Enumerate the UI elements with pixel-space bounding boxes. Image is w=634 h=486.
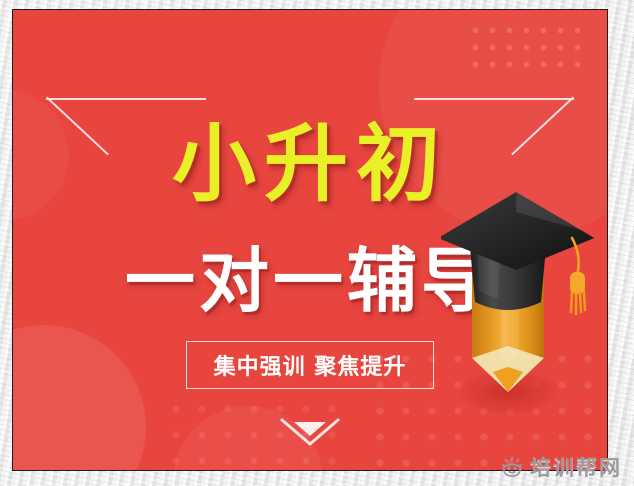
graduation-cap-pencil-icon xyxy=(441,186,601,436)
poster-inner: 小升初 一对一辅导 集中强训 聚焦提升 xyxy=(13,10,607,470)
tagline-box: 集中强训 聚焦提升 xyxy=(186,341,434,389)
poster-card: 小升初 一对一辅导 集中强训 聚焦提升 xyxy=(12,9,608,471)
tagline-text: 集中强训 聚焦提升 xyxy=(214,349,407,381)
watermark-text: 培训帮网 xyxy=(530,452,622,482)
bracket-left-horizontal xyxy=(46,98,206,100)
poster-stage: 小升初 一对一辅导 集中强训 聚焦提升 xyxy=(0,0,634,486)
dot-grid-top-right xyxy=(467,22,589,74)
sun-face-icon xyxy=(501,456,523,478)
decorative-circle-bottom-left xyxy=(13,325,146,470)
watermark: 培训帮网 xyxy=(495,450,628,484)
chevron-down-icon xyxy=(279,414,341,450)
bracket-right-horizontal xyxy=(414,98,574,100)
